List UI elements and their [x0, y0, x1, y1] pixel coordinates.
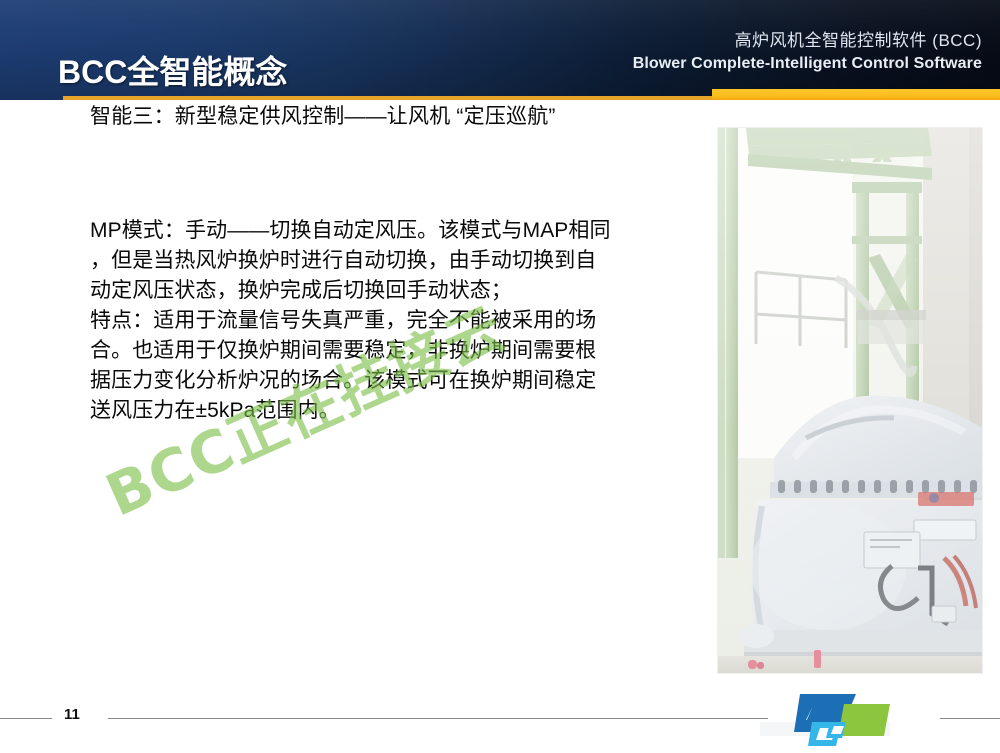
- brand-block: 高炉风机全智能控制软件 (BCC) Blower Complete-Intell…: [633, 30, 982, 75]
- body-line: 送风压力在±5kPa范围内。: [90, 396, 715, 426]
- slide-header: BCC全智能概念 高炉风机全智能控制软件 (BCC) Blower Comple…: [0, 0, 1000, 100]
- slide: BCC全智能概念 高炉风机全智能控制软件 (BCC) Blower Comple…: [0, 0, 1000, 750]
- page-number: 11: [64, 706, 80, 723]
- page-title: BCC全智能概念: [58, 47, 287, 93]
- body-paragraph: MP模式：手动——切换自动定风压。该模式与MAP相同 ，但是当热风炉换炉时进行自…: [90, 216, 715, 426]
- brand-title-cn: 高炉风机全智能控制软件 (BCC): [633, 30, 982, 52]
- footer-rule-left: [0, 718, 52, 719]
- body-line: 特点：适用于流量信号失真严重，完全不能被采用的场: [90, 306, 715, 336]
- body-line: 合。也适用于仅换炉期间需要稳定，非换炉期间需要根: [90, 336, 715, 366]
- body-line: ，但是当热风炉换炉时进行自动切换，由手动切换到自: [90, 246, 715, 276]
- footer-rule-right: [940, 718, 1000, 719]
- footer-rule-main: [108, 718, 768, 719]
- body-line: 据压力变化分析炉况的场合。该模式可在换炉期间稳定: [90, 366, 715, 396]
- body-line: 动定风压状态，换炉完成后切换回手动状态；: [90, 276, 715, 306]
- brand-title-en: Blower Complete-Intelligent Control Soft…: [633, 53, 982, 75]
- header-accent-block: [712, 89, 1000, 100]
- section-heading: 智能三：新型稳定供风控制——让风机 “定压巡航”: [90, 100, 556, 130]
- body-line: MP模式：手动——切换自动定风压。该模式与MAP相同: [90, 216, 715, 246]
- company-logo: [786, 692, 902, 748]
- blower-machine-photo: [718, 128, 982, 673]
